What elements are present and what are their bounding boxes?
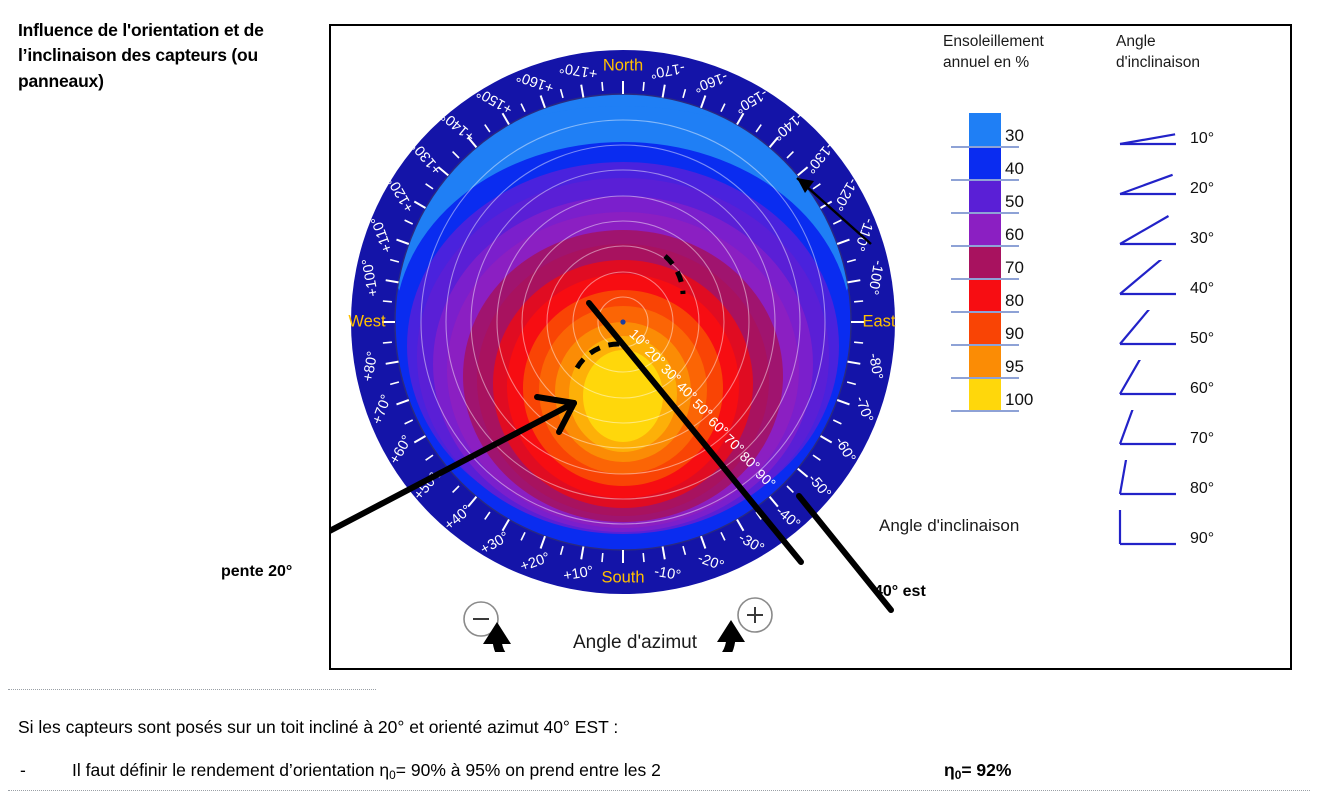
bullet-dash: - bbox=[20, 760, 26, 781]
tilt-legend-heading: Angle d'inclinaison bbox=[1116, 32, 1291, 74]
tilt-legend-label-20: 20° bbox=[1190, 180, 1214, 198]
colorbar-heading: Ensoleillement annuel en % bbox=[943, 32, 1103, 74]
colorbar-band-60 bbox=[969, 212, 1001, 245]
bullet-text-pre: Il faut définir le rendement d’orientati… bbox=[72, 760, 379, 780]
tilt-glyph-80-icon bbox=[1116, 460, 1186, 500]
bullet-text-post: = 90% à 95% on prend entre les 2 bbox=[396, 760, 661, 780]
colorbar-label-95: 95 bbox=[1005, 358, 1024, 375]
colorbar-legend: Ensoleillement annuel en % 3040506070809… bbox=[943, 32, 1103, 452]
tilt-glyph-10-icon bbox=[1116, 110, 1186, 150]
eta-symbol: η bbox=[379, 760, 389, 780]
colorbar-tick-70 bbox=[951, 278, 1019, 280]
colorbar-tick-60 bbox=[951, 245, 1019, 247]
tilt-legend-item-80: 80° bbox=[1116, 460, 1291, 494]
tilt-legend: Angle d'inclinaison 10°20°30°40°50°60°70… bbox=[1116, 32, 1291, 532]
tilt-legend-item-50: 50° bbox=[1116, 310, 1291, 344]
plot-center-dot bbox=[620, 319, 625, 324]
annotation-40-est: 40° est bbox=[874, 583, 926, 601]
tilt-legend-label-50: 50° bbox=[1190, 330, 1214, 348]
azimuth-minor-tick--5 bbox=[643, 553, 644, 562]
tilt-glyph-50-icon bbox=[1116, 310, 1186, 350]
azimuth-minor-tick--95 bbox=[854, 301, 863, 302]
divider-bottom bbox=[8, 790, 1310, 791]
polar-chart: 10°20°30°40°50°60°70°80°90° -170°-160°-1… bbox=[331, 26, 931, 626]
annotation-pente-20: pente 20° bbox=[221, 563, 292, 581]
tilt-legend-label-40: 40° bbox=[1190, 280, 1214, 298]
colorbar-band-100 bbox=[969, 377, 1001, 410]
tilt-legend-item-10: 10° bbox=[1116, 110, 1291, 144]
colorbar-band-50 bbox=[969, 179, 1001, 212]
tilt-legend-item-70: 70° bbox=[1116, 410, 1291, 444]
colorbar-label-60: 60 bbox=[1005, 226, 1024, 243]
colorbar-tick-100 bbox=[951, 410, 1019, 412]
colorbar-label-70: 70 bbox=[1005, 259, 1024, 276]
colorbar-label-90: 90 bbox=[1005, 325, 1024, 342]
tilt-legend-label-70: 70° bbox=[1190, 430, 1214, 448]
bullet-result: η0= 92% bbox=[944, 760, 1011, 782]
azimuth-axis-label: Angle d'azimut bbox=[573, 632, 697, 654]
colorbar-tick-30 bbox=[951, 146, 1019, 148]
colorbar-label-100: 100 bbox=[1005, 391, 1033, 408]
colorbar-band-70 bbox=[969, 245, 1001, 278]
polar-chart-svg: 10°20°30°40°50°60°70°80°90° -170°-160°-1… bbox=[331, 26, 931, 626]
page-title: Influence de l'orientation et de l’incli… bbox=[18, 18, 318, 94]
colorbar-band-80 bbox=[969, 278, 1001, 311]
colorbar-tick-50 bbox=[951, 212, 1019, 214]
annotation-angle-inclinaison: Angle d'inclinaison bbox=[879, 516, 1019, 536]
colorbar-band-90 bbox=[969, 311, 1001, 344]
tilt-legend-label-80: 80° bbox=[1190, 480, 1214, 498]
figure-frame: 10°20°30°40°50°60°70°80°90° -170°-160°-1… bbox=[329, 24, 1292, 670]
eta-value-result: = 92% bbox=[961, 760, 1011, 780]
colorbar-label-50: 50 bbox=[1005, 193, 1024, 210]
tilt-glyph-90-icon bbox=[1116, 510, 1186, 550]
tilt-glyph-60-icon bbox=[1116, 360, 1186, 400]
tilt-legend-item-60: 60° bbox=[1116, 360, 1291, 394]
azimuth-minor-tick-5 bbox=[602, 553, 603, 562]
tilt-legend-label-10: 10° bbox=[1190, 130, 1214, 148]
tilt-glyph-70-icon bbox=[1116, 410, 1186, 450]
tilt-legend-label-60: 60° bbox=[1190, 380, 1214, 398]
colorbar-band-95 bbox=[969, 344, 1001, 377]
colorbar-label-30: 30 bbox=[1005, 127, 1024, 144]
tilt-glyph-30-icon bbox=[1116, 210, 1186, 250]
tilt-legend-item-40: 40° bbox=[1116, 260, 1291, 294]
colorbar-tick-95 bbox=[951, 377, 1019, 379]
azimuth-minor-tick--85 bbox=[854, 342, 863, 343]
colorbar-gradient bbox=[969, 113, 1001, 410]
azimuth-minor-tick-95 bbox=[383, 301, 392, 302]
tilt-legend-label-90: 90° bbox=[1190, 530, 1214, 548]
azimuth-minor-tick-85 bbox=[383, 342, 392, 343]
colorbar-tick-90 bbox=[951, 344, 1019, 346]
eta-subscript: 0 bbox=[389, 768, 396, 782]
eta-symbol-result: η bbox=[944, 760, 955, 780]
colorbar-band-30 bbox=[969, 113, 1001, 146]
bullet-text: Il faut définir le rendement d’orientati… bbox=[72, 760, 661, 782]
colorbar-label-80: 80 bbox=[1005, 292, 1024, 309]
azimuth-minor-tick--175 bbox=[643, 82, 644, 91]
cardinal-label-north: North bbox=[603, 56, 643, 74]
colorbar-tick-40 bbox=[951, 179, 1019, 181]
colorbar-tick-80 bbox=[951, 311, 1019, 313]
cardinal-label-west: West bbox=[348, 312, 386, 330]
divider-top bbox=[8, 689, 376, 690]
cardinal-label-east: East bbox=[862, 312, 895, 330]
tilt-legend-label-30: 30° bbox=[1190, 230, 1214, 248]
colorbar-band-40 bbox=[969, 146, 1001, 179]
tilt-glyph-20-icon bbox=[1116, 160, 1186, 200]
tilt-legend-item-90: 90° bbox=[1116, 510, 1291, 544]
tilt-legend-item-20: 20° bbox=[1116, 160, 1291, 194]
tilt-glyph-40-icon bbox=[1116, 260, 1186, 300]
bottom-sentence: Si les capteurs sont posés sur un toit i… bbox=[18, 717, 618, 738]
colorbar-label-40: 40 bbox=[1005, 160, 1024, 177]
tilt-legend-item-30: 30° bbox=[1116, 210, 1291, 244]
azimuth-minor-tick-175 bbox=[602, 82, 603, 91]
